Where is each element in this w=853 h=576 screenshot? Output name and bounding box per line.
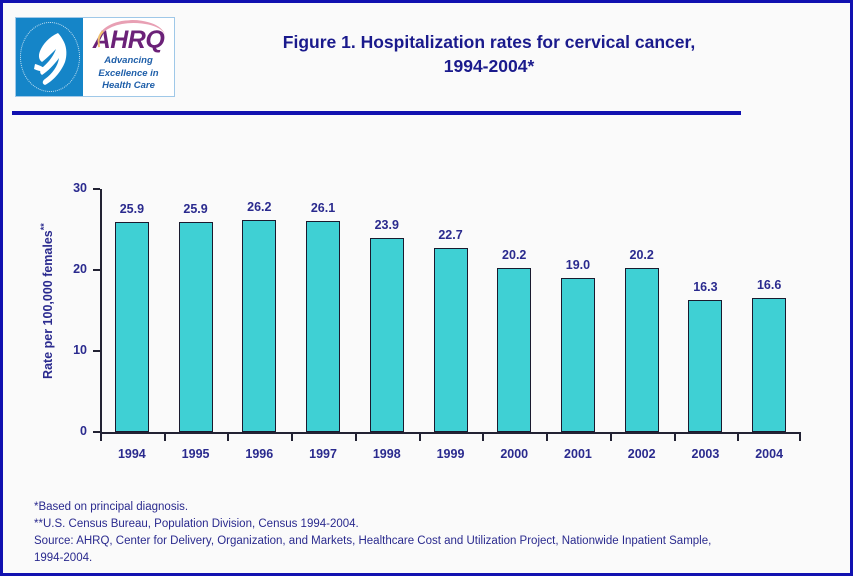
y-tick-label-30: 30 <box>47 182 87 194</box>
x-axis-label-1995: 1995 <box>166 447 226 461</box>
x-axis-label-2004: 2004 <box>739 447 799 461</box>
ahrq-swoosh-icon <box>96 18 166 48</box>
bar-value-1994: 25.9 <box>102 202 162 216</box>
y-axis-title-text: Rate per 100,000 females <box>41 230 55 379</box>
bar-value-1996: 26.2 <box>229 200 289 214</box>
x-axis-label-1997: 1997 <box>293 447 353 461</box>
y-axis-title: Rate per 100,000 females** <box>39 171 55 431</box>
x-axis-label-2003: 2003 <box>675 447 735 461</box>
x-axis-label-1996: 1996 <box>229 447 289 461</box>
x-axis-label-2000: 2000 <box>484 447 544 461</box>
bar-value-2003: 16.3 <box>675 280 735 294</box>
figure-page: AHRQ Advancing Excellence in Health Care… <box>0 0 853 576</box>
figure-header: AHRQ Advancing Excellence in Health Care… <box>3 3 850 107</box>
bar-1995 <box>179 222 213 432</box>
bar-value-1998: 23.9 <box>357 218 417 232</box>
bar-1998 <box>370 238 404 432</box>
bar-1996 <box>242 220 276 432</box>
x-axis-label-1998: 1998 <box>357 447 417 461</box>
plot-area: 0102030 25.925.926.226.123.922.720.219.0… <box>100 189 801 434</box>
footnote-source-line1: Source: AHRQ, Center for Delivery, Organ… <box>34 533 824 550</box>
x-tick-11 <box>799 434 801 441</box>
y-tick-label-20: 20 <box>47 263 87 275</box>
bar-value-1995: 25.9 <box>166 202 226 216</box>
bar-1994 <box>115 222 149 432</box>
bar-value-2002: 20.2 <box>612 248 672 262</box>
x-axis-line <box>100 432 801 434</box>
x-tick-9 <box>674 434 676 441</box>
footnote-census-source: **U.S. Census Bureau, Population Divisio… <box>34 516 824 533</box>
ahrq-tagline-line1: Advancing <box>83 55 174 67</box>
footnote-source-line2: 1994-2004. <box>34 550 824 567</box>
x-tick-2 <box>227 434 229 441</box>
bar-2003 <box>688 300 722 432</box>
x-tick-7 <box>546 434 548 441</box>
ahrq-wordmark: AHRQ Advancing Excellence in Health Care <box>83 18 174 96</box>
y-tick-label-10: 10 <box>47 344 87 356</box>
y-tick-20 <box>93 269 100 271</box>
y-tick-30 <box>93 188 100 190</box>
figure-title: Figure 1. Hospitalization rates for cerv… <box>189 30 789 78</box>
bar-2002 <box>625 268 659 432</box>
x-axis-label-1994: 1994 <box>102 447 162 461</box>
y-axis-title-superscript: ** <box>39 223 49 230</box>
bar-value-2000: 20.2 <box>484 248 544 262</box>
bar-value-1997: 26.1 <box>293 201 353 215</box>
x-tick-3 <box>291 434 293 441</box>
x-axis-label-2002: 2002 <box>612 447 672 461</box>
ahrq-tagline-line2: Excellence in <box>83 68 174 80</box>
bar-2001 <box>561 278 595 432</box>
y-tick-10 <box>93 350 100 352</box>
y-tick-label-0: 0 <box>47 425 87 437</box>
bar-value-1999: 22.7 <box>421 228 481 242</box>
x-axis-label-1999: 1999 <box>421 447 481 461</box>
x-tick-0 <box>100 434 102 441</box>
x-tick-8 <box>610 434 612 441</box>
footnotes: *Based on principal diagnosis. **U.S. Ce… <box>34 499 824 567</box>
bar-chart: Rate per 100,000 females** 0102030 25.92… <box>3 115 850 495</box>
bar-1997 <box>306 221 340 432</box>
x-tick-4 <box>355 434 357 441</box>
y-tick-0 <box>93 431 100 433</box>
bar-1999 <box>434 248 468 432</box>
x-tick-5 <box>419 434 421 441</box>
bar-value-2001: 19.0 <box>548 258 608 272</box>
bar-2000 <box>497 268 531 432</box>
x-tick-6 <box>482 434 484 441</box>
figure-title-line1: Figure 1. Hospitalization rates for cerv… <box>189 30 789 54</box>
footnote-principal-diagnosis: *Based on principal diagnosis. <box>34 499 824 516</box>
figure-title-line2: 1994-2004* <box>189 54 789 78</box>
bar-2004 <box>752 298 786 432</box>
x-axis-label-2001: 2001 <box>548 447 608 461</box>
x-tick-1 <box>164 434 166 441</box>
hhs-eagle-icon <box>22 24 77 90</box>
y-axis-line <box>100 189 102 434</box>
ahrq-logo: AHRQ Advancing Excellence in Health Care <box>15 17 175 97</box>
bar-value-2004: 16.6 <box>739 278 799 292</box>
hhs-seal-icon <box>16 18 83 96</box>
ahrq-tagline-line3: Health Care <box>83 80 174 92</box>
x-tick-10 <box>737 434 739 441</box>
